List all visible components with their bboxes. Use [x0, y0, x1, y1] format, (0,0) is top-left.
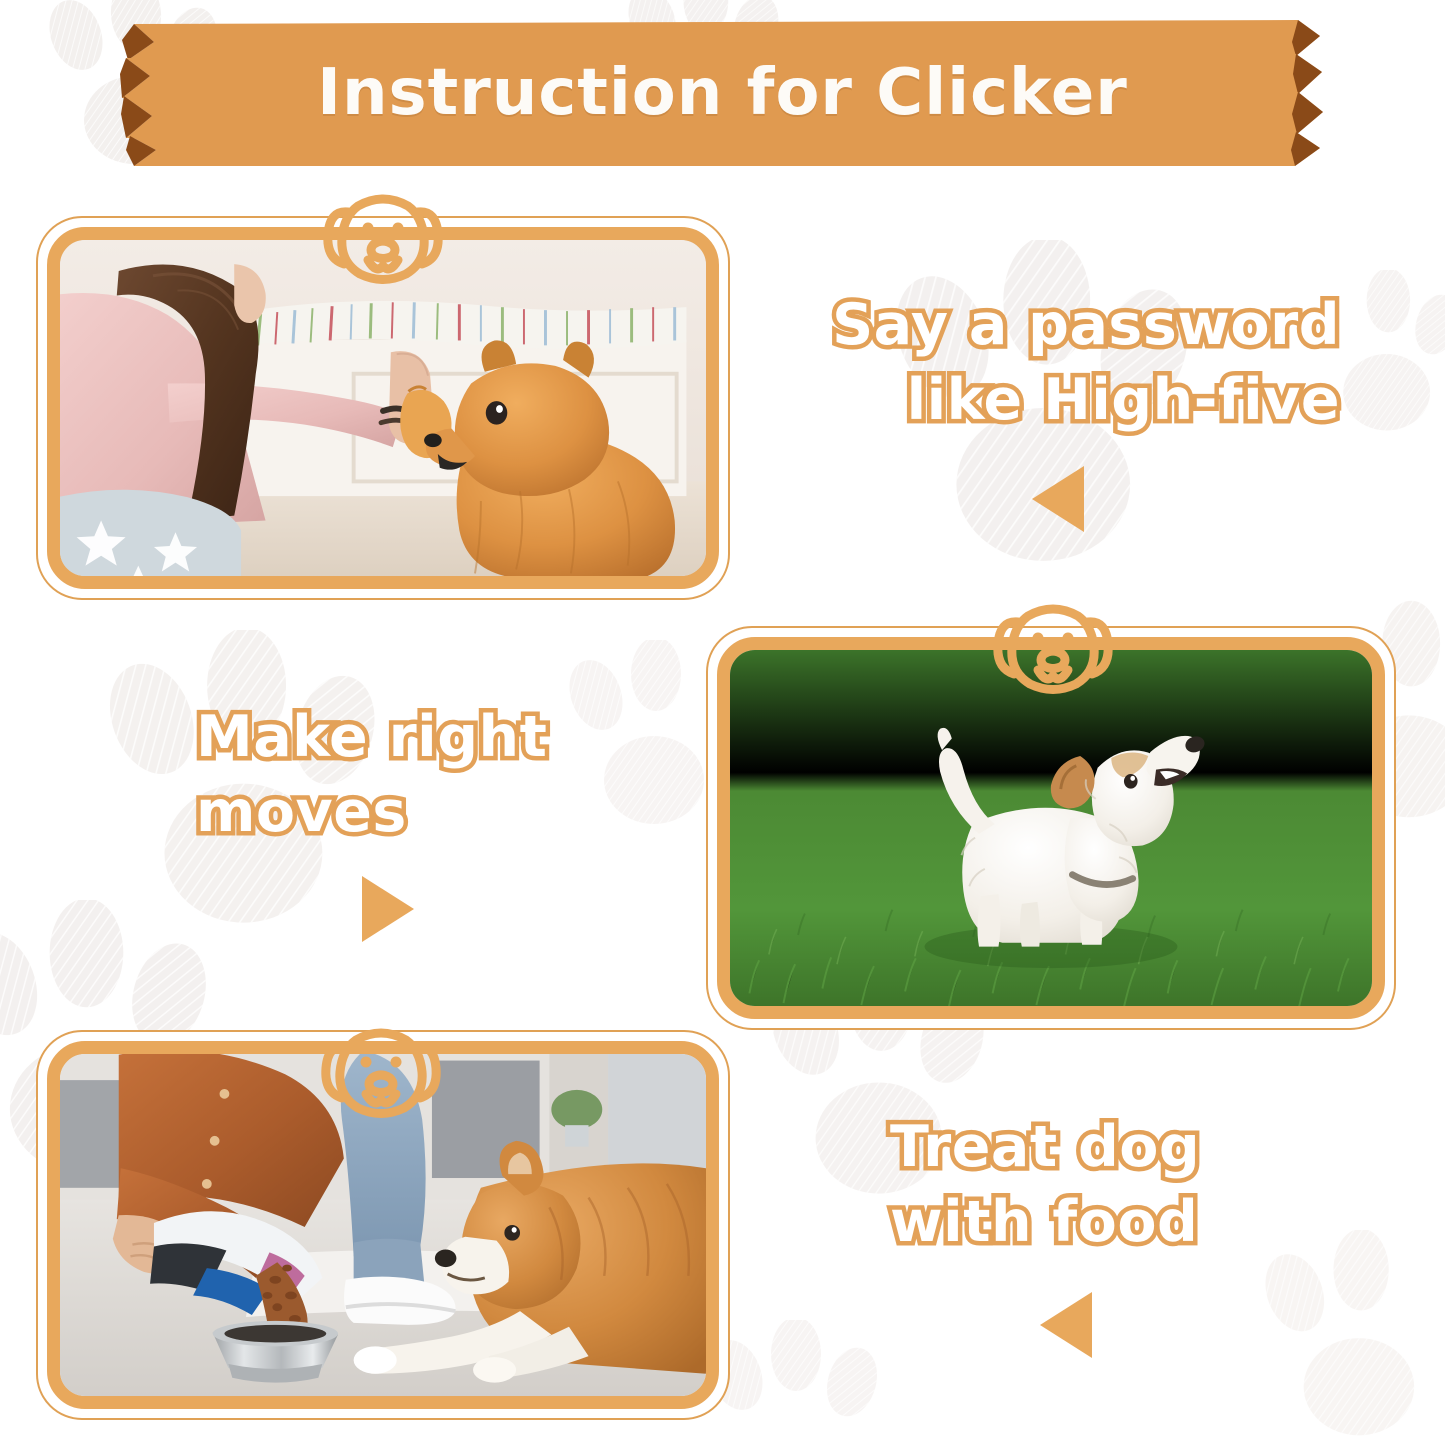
- caption-step-2: Make right moves: [196, 700, 756, 850]
- dog-head-icon: [318, 186, 448, 290]
- page-title: Instruction for Clicker: [120, 18, 1325, 168]
- caption-step-2-line-2: moves: [196, 775, 756, 850]
- dog-head-icon: [316, 1020, 446, 1124]
- caption-step-2-line-1: Make right: [196, 700, 756, 775]
- paw-print-icon: [1255, 1230, 1445, 1445]
- dog-head-icon: [988, 596, 1118, 700]
- arrow-left-icon: [1032, 466, 1084, 532]
- caption-step-1-line-2: like High-five: [740, 363, 1340, 438]
- caption-step-3: Treat dog with food: [890, 1110, 1410, 1260]
- infographic-page: Instruction for Clicker: [0, 0, 1445, 1445]
- caption-step-1-line-1: Say a password: [740, 288, 1340, 363]
- header-sign: Instruction for Clicker: [120, 18, 1325, 168]
- arrow-right-icon: [362, 876, 414, 942]
- caption-step-3-line-1: Treat dog: [890, 1110, 1410, 1185]
- caption-step-3-line-2: with food: [890, 1185, 1410, 1260]
- photo-white-terrier-on-grass: [730, 650, 1372, 1006]
- photo-woman-high-fiving-pomeranian: [60, 240, 706, 576]
- arrow-left-icon: [1040, 1292, 1092, 1358]
- caption-step-1: Say a password like High-five: [740, 288, 1340, 438]
